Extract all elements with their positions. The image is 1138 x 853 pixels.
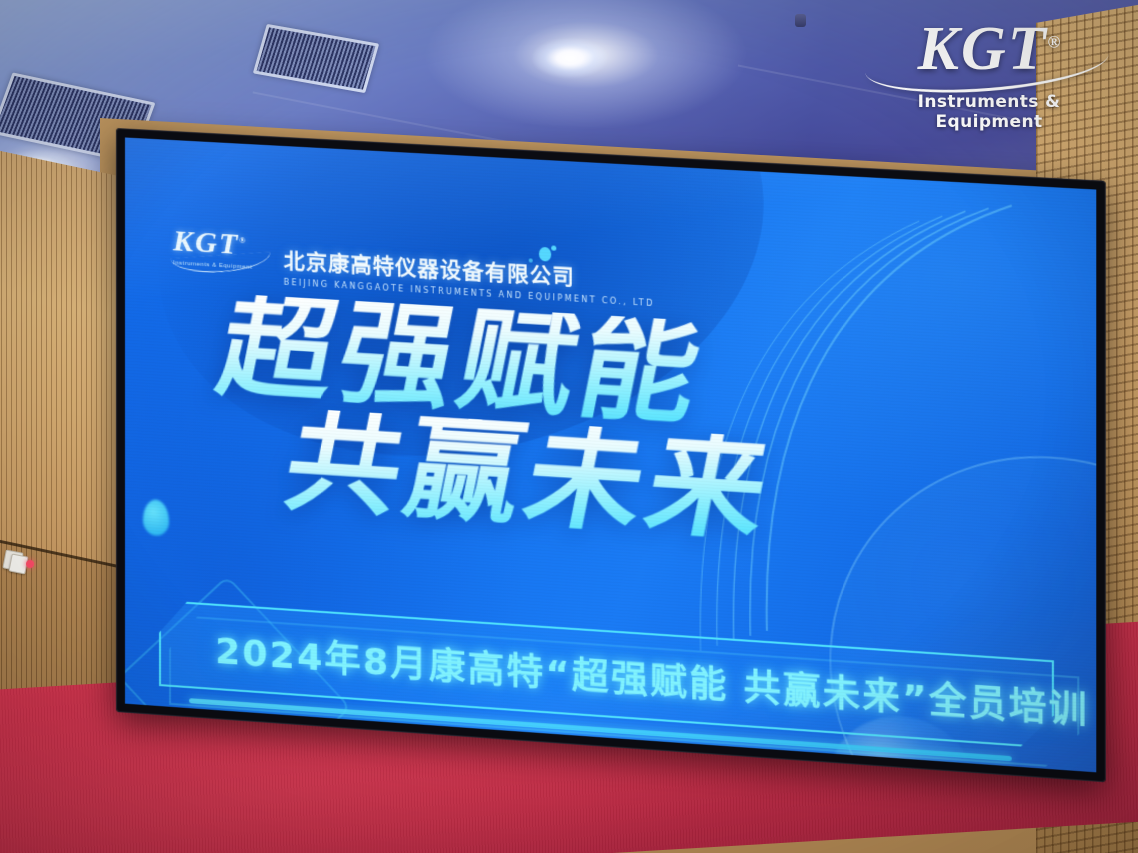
indicator-light [26,560,34,568]
kgt-logo-onscreen: KGT® Instruments & Equipment [173,226,270,288]
kgt-watermark: KGT® Instruments & Equipment [874,18,1104,114]
ceiling-sprinkler [795,14,806,27]
registered-trademark-icon: ® [239,236,245,245]
conference-room-photo: KGT® Instruments & Equipment 北京康高特仪器设备有限… [0,0,1138,853]
led-display-screen[interactable]: KGT® Instruments & Equipment 北京康高特仪器设备有限… [116,128,1106,782]
decorative-dots [525,244,562,276]
watermark-tagline: Instruments & Equipment [874,92,1104,132]
screen-content: KGT® Instruments & Equipment 北京康高特仪器设备有限… [125,137,1096,772]
watermark-registered-icon: ® [1048,32,1061,51]
slide-title: 超强赋能 共赢未来 [221,293,1003,558]
ceiling-downlight-center [532,38,608,78]
